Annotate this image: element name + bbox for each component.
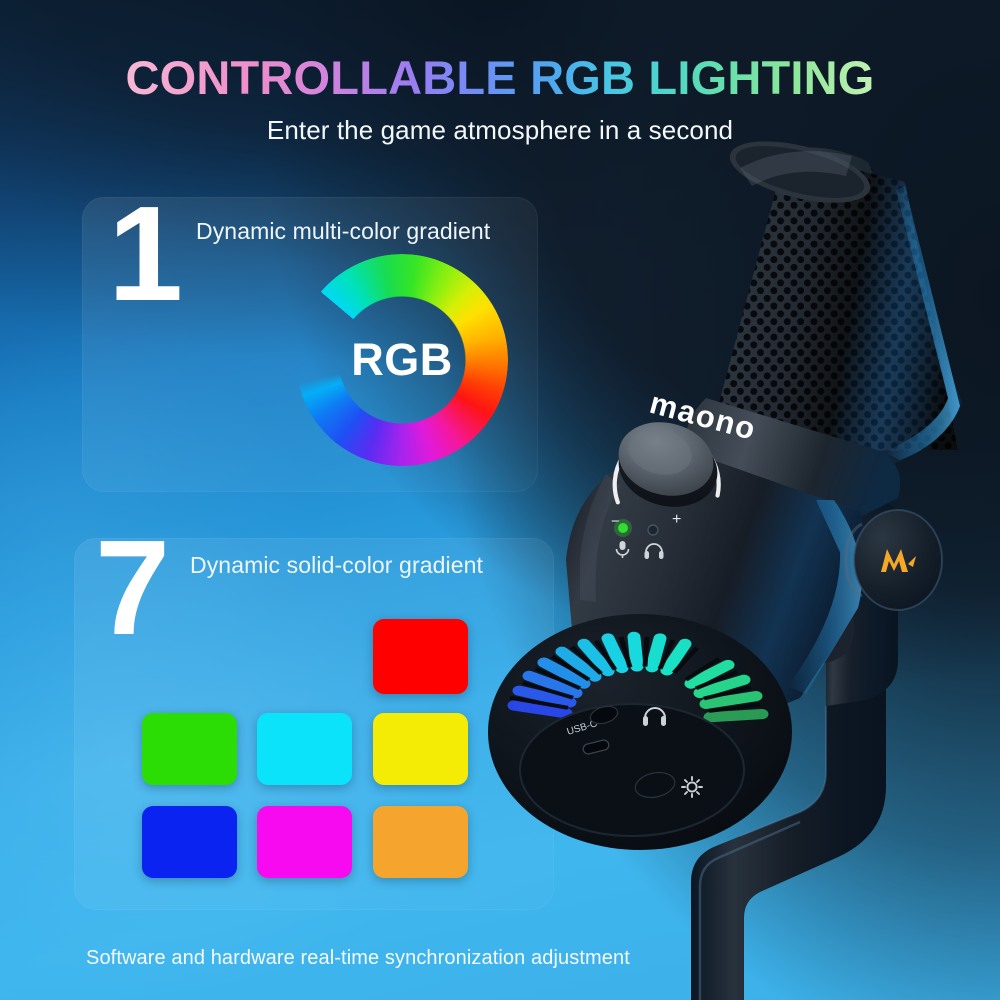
rgb-gradient-ring: RGB [296, 254, 508, 466]
footer-caption: Software and hardware real-time synchron… [86, 947, 630, 970]
feature-label-one: Dynamic multi-color gradient [196, 218, 490, 245]
feature-number-seven: 7 [95, 533, 170, 644]
product-marketing-image: maono − + [0, 0, 1000, 1000]
color-swatch-blue [142, 806, 237, 878]
feature-number-one: 1 [108, 199, 183, 310]
rgb-ring-label: RGB [296, 254, 508, 466]
page-title: CONTROLLABLE RGB LIGHTING [0, 54, 1000, 101]
color-swatch-magenta [257, 806, 352, 878]
color-swatch-red [373, 619, 468, 694]
feature-label-seven: Dynamic solid-color gradient [190, 552, 483, 579]
color-swatch-yellow [373, 713, 468, 785]
color-swatch-green [142, 713, 237, 785]
color-swatch-orange [373, 806, 468, 878]
page-subtitle: Enter the game atmosphere in a second [0, 115, 1000, 146]
color-swatch-cyan [257, 713, 352, 785]
